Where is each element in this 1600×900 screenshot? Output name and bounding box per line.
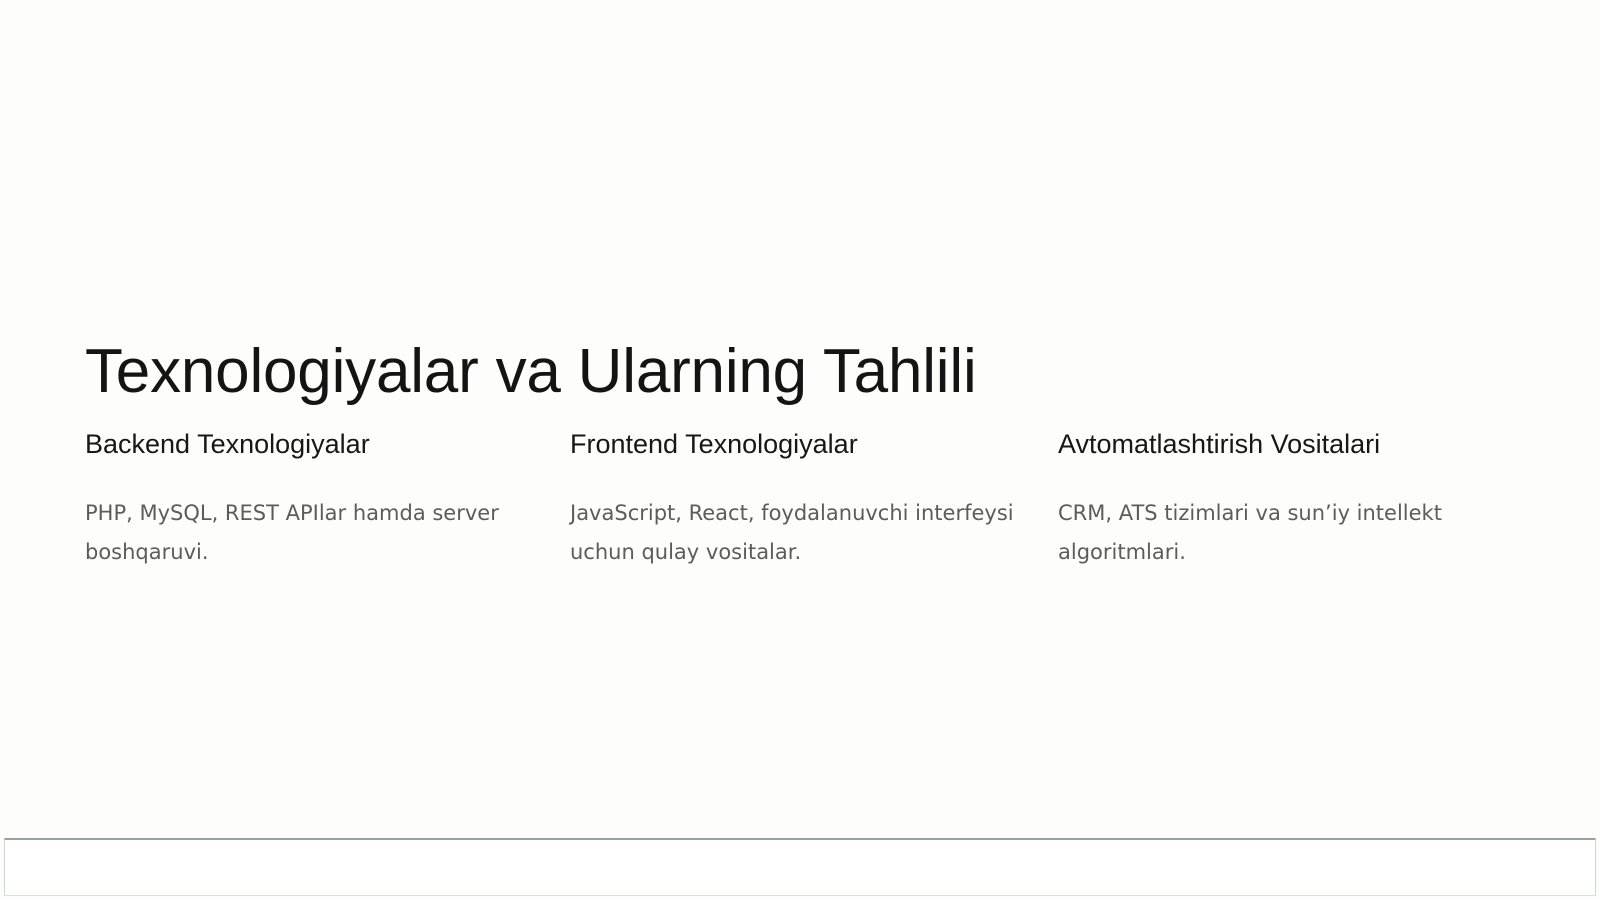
column-heading-automation: Avtomatlashtirish Vositalari: [1058, 428, 1505, 462]
column-frontend: Frontend Texnologiyalar JavaScript, Reac…: [570, 428, 1058, 572]
bottom-placeholder-box[interactable]: [4, 838, 1596, 896]
column-body-frontend: JavaScript, React, foydalanuvchi interfe…: [570, 494, 1020, 572]
page-title: Texnologiyalar va Ularning Tahlili: [85, 338, 977, 406]
column-body-backend: PHP, MySQL, REST APIlar hamda server bos…: [85, 494, 532, 572]
columns-container: Backend Texnologiyalar PHP, MySQL, REST …: [85, 428, 1515, 572]
column-backend: Backend Texnologiyalar PHP, MySQL, REST …: [85, 428, 570, 572]
column-automation: Avtomatlashtirish Vositalari CRM, ATS ti…: [1058, 428, 1515, 572]
column-heading-frontend: Frontend Texnologiyalar: [570, 428, 1020, 462]
slide-canvas: Texnologiyalar va Ularning Tahlili Backe…: [0, 0, 1600, 900]
column-heading-backend: Backend Texnologiyalar: [85, 428, 532, 462]
column-body-automation: CRM, ATS tizimlari va sun’iy intellekt a…: [1058, 494, 1505, 572]
